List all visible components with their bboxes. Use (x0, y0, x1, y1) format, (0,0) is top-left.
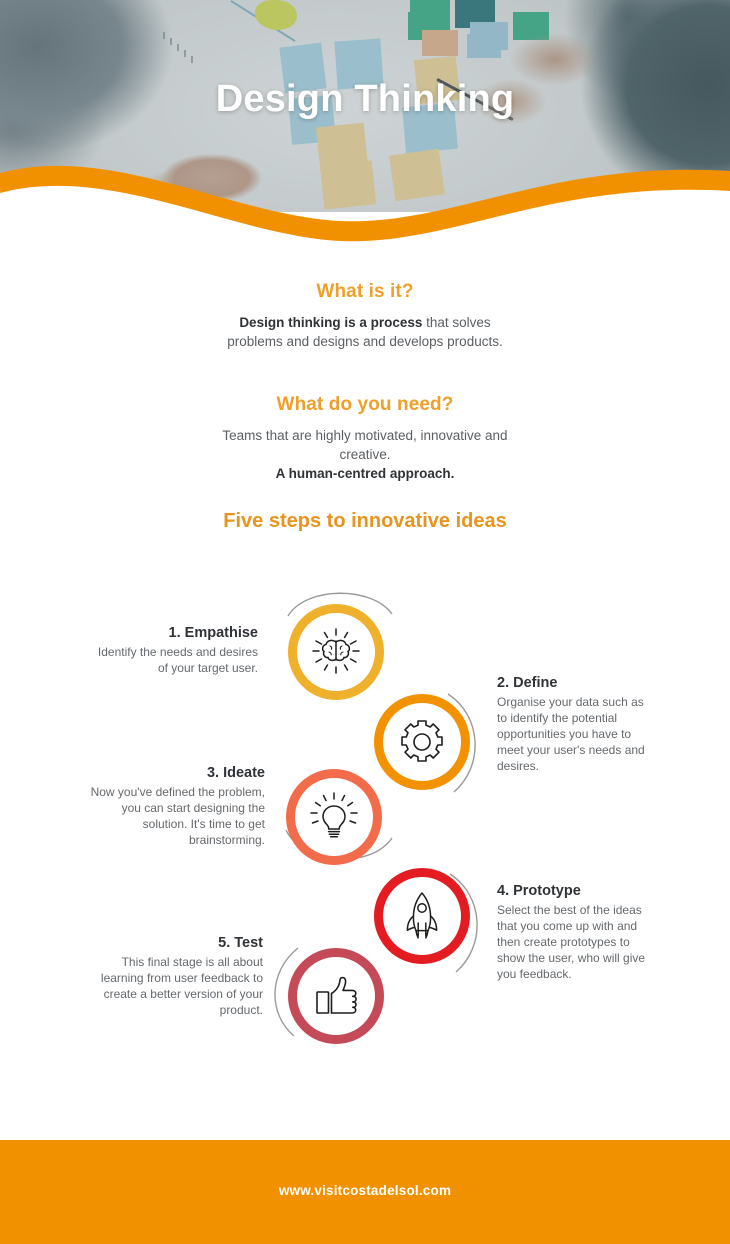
step-title-ideate: 3. Ideate (90, 765, 265, 781)
step-text-ideate: 3. Ideate Now you've defined the problem… (90, 765, 265, 848)
step-text-prototype: 4. Prototype Select the best of the idea… (497, 883, 647, 982)
step-desc-define: Organise your data such as to identify t… (497, 694, 647, 774)
step-circle-ideate[interactable] (286, 769, 382, 865)
step-title-prototype: 4. Prototype (497, 883, 647, 899)
step-desc-prototype: Select the best of the ideas that you co… (497, 902, 647, 982)
infographic-page: Design Thinking What is it? Design think… (0, 0, 730, 1244)
step-desc-test: This final stage is all about learning f… (93, 954, 263, 1018)
step-title-test: 5. Test (93, 935, 263, 951)
step-circle-test[interactable] (288, 948, 384, 1044)
step-desc-ideate: Now you've defined the problem, you can … (90, 784, 265, 848)
thumbs-up-icon (309, 970, 363, 1022)
step-circle-prototype[interactable] (374, 868, 470, 964)
page-title: Design Thinking (0, 78, 730, 121)
step-title-define: 2. Define (497, 675, 647, 691)
step-circle-empathise[interactable] (288, 604, 384, 700)
step-title-empathise: 1. Empathise (93, 625, 258, 641)
step-text-empathise: 1. Empathise Identify the needs and desi… (93, 625, 258, 676)
gear-icon (397, 717, 447, 767)
rocket-icon (397, 889, 447, 943)
brain-icon (308, 624, 364, 680)
step-circle-define[interactable] (374, 694, 470, 790)
step-text-define: 2. Define Organise your data such as to … (497, 675, 647, 774)
footer-url[interactable]: www.visitcostadelsol.com (0, 1183, 730, 1198)
header-wave-divider (0, 155, 730, 250)
step-desc-empathise: Identify the needs and desires of your t… (93, 644, 258, 676)
lightbulb-icon (307, 790, 361, 844)
step-text-test: 5. Test This final stage is all about le… (93, 935, 263, 1018)
